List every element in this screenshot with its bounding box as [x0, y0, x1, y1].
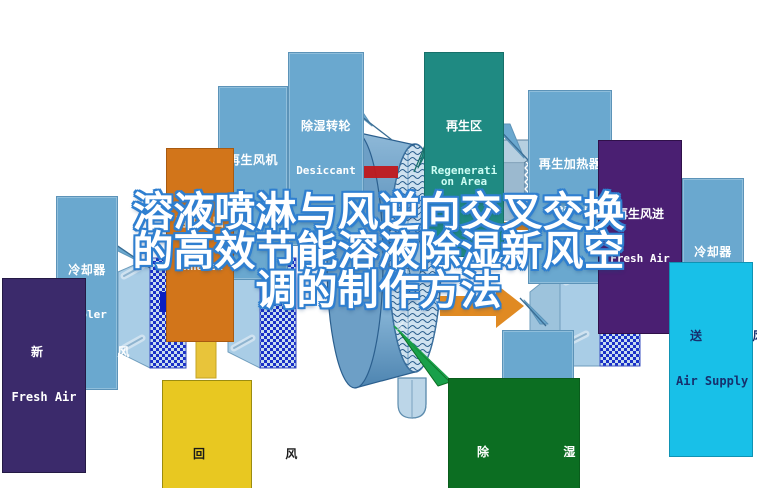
callout-exhaust[interactable]: 再生风出 Exhaust — [166, 148, 234, 342]
callout-exhaust-cn: 再生风出 — [173, 216, 227, 228]
callout-regen-fresh-air-en: Fresh Air — [605, 253, 675, 264]
callout-air-supply-cn: 送 风 — [676, 330, 746, 342]
callout-desiccant-en: Desiccant — [295, 165, 357, 176]
callout-regen-fresh-air-cn: 再生风进 — [605, 208, 675, 220]
callout-air-supply-en: Air Supply — [676, 375, 746, 387]
solution-sump — [398, 378, 426, 418]
callout-fresh-air-cn: 新 风 — [9, 346, 79, 358]
callout-regen-area-en: Regenerati on Area — [431, 165, 497, 187]
callout-regen-heater-en: heater — [535, 203, 605, 214]
callout-regen-area-cn: 再生区 — [431, 120, 497, 132]
callout-regen-heater-cn: 再生加热器 — [535, 158, 605, 170]
callout-desiccant-cn: 除湿转轮 — [295, 120, 357, 132]
callout-fresh-air-en: Fresh Air — [9, 391, 79, 403]
callout-dehum-district[interactable]: 除 湿 区 Dehumidification District — [448, 378, 580, 488]
callout-cooler-left-cn: 冷却器 — [63, 264, 111, 276]
callout-back-wind[interactable]: 回 风 Back wind — [162, 380, 252, 488]
callout-desiccant[interactable]: 除湿转轮 Desiccant — [288, 52, 364, 246]
diagram-canvas: xf 除湿转轮 Desiccant 再生风机 Blower 再生区 Regene… — [0, 0, 757, 488]
callout-air-supply[interactable]: 送 风 Air Supply — [669, 262, 753, 457]
callout-fresh-air[interactable]: 新 风 Fresh Air — [2, 278, 86, 473]
callout-cooler-right-cn: 冷却器 — [689, 246, 737, 258]
callout-dehum-district-cn: 除 湿 区 — [455, 446, 573, 458]
watermark-text: xf — [396, 316, 411, 334]
callout-exhaust-en: Exhaust — [173, 261, 227, 272]
callout-back-wind-cn: 回 风 — [169, 448, 245, 460]
dehum-air-arrow — [440, 284, 524, 328]
callout-regen-area[interactable]: 再生区 Regenerati on Area — [424, 52, 504, 257]
